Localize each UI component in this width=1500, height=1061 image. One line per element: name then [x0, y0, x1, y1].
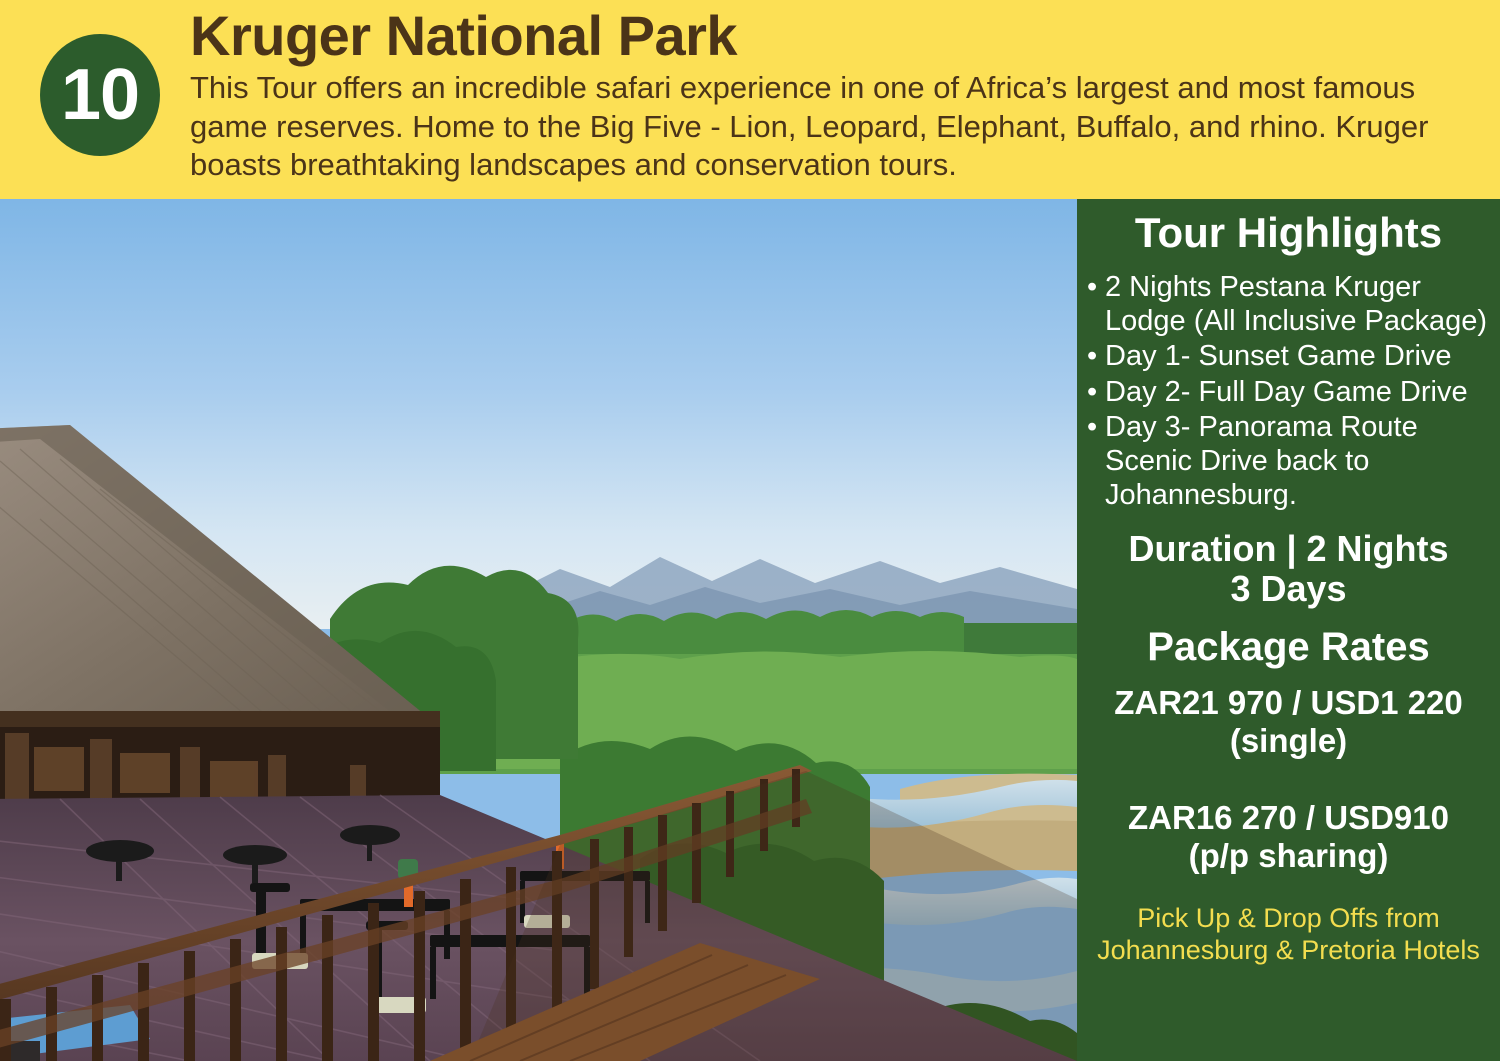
- tour-number-badge: 10: [40, 34, 160, 156]
- rate-single-price: ZAR21 970 / USD1 220: [1081, 684, 1496, 722]
- pickup-note: Pick Up & Drop Offs from Johannesburg & …: [1081, 903, 1496, 967]
- tour-highlights-list: • 2 Nights Pestana Kruger Lodge (All Inc…: [1081, 270, 1496, 513]
- header-text-block: Kruger National Park This Tour offers an…: [190, 6, 1480, 184]
- list-item: • Day 3- Panorama Route Scenic Drive bac…: [1087, 410, 1496, 513]
- brochure-page: 10 Kruger National Park This Tour offers…: [0, 0, 1500, 1061]
- tour-description: This Tour offers an incredible safari ex…: [190, 69, 1465, 183]
- bullet-icon: •: [1087, 270, 1105, 304]
- pickup-line-1: Pick Up & Drop Offs from: [1081, 903, 1496, 935]
- list-item: • 2 Nights Pestana Kruger Lodge (All Inc…: [1087, 270, 1496, 338]
- page-title: Kruger National Park: [190, 6, 1480, 66]
- header-banner: 10 Kruger National Park This Tour offers…: [0, 0, 1500, 199]
- list-item-label: Day 1- Sunset Game Drive: [1105, 339, 1496, 373]
- list-item: • Day 2- Full Day Game Drive: [1087, 375, 1496, 409]
- tour-number-label: 10: [61, 59, 139, 131]
- duration-line-1: Duration | 2 Nights: [1081, 529, 1496, 569]
- rate-sharing-price: ZAR16 270 / USD910: [1081, 799, 1496, 837]
- list-item-label: Day 3- Panorama Route Scenic Drive back …: [1105, 410, 1496, 513]
- rate-sharing: ZAR16 270 / USD910 (p/p sharing): [1081, 799, 1496, 876]
- rate-single: ZAR21 970 / USD1 220 (single): [1081, 684, 1496, 761]
- duration-block: Duration | 2 Nights 3 Days: [1081, 529, 1496, 610]
- package-rates-heading: Package Rates: [1081, 625, 1496, 670]
- list-item-label: 2 Nights Pestana Kruger Lodge (All Inclu…: [1105, 270, 1496, 338]
- bullet-icon: •: [1087, 375, 1105, 409]
- lodge-photo-illustration: [0, 199, 1077, 1061]
- rate-single-label: (single): [1081, 722, 1496, 760]
- pickup-line-2: Johannesburg & Pretoria Hotels: [1081, 935, 1496, 967]
- lodge-photo: [0, 199, 1077, 1061]
- bullet-icon: •: [1087, 339, 1105, 373]
- bullet-icon: •: [1087, 410, 1105, 444]
- duration-line-2: 3 Days: [1081, 569, 1496, 609]
- tour-details-panel: Tour Highlights • 2 Nights Pestana Kruge…: [1077, 199, 1500, 1061]
- list-item: • Day 1- Sunset Game Drive: [1087, 339, 1496, 373]
- rate-sharing-label: (p/p sharing): [1081, 837, 1496, 875]
- tour-highlights-heading: Tour Highlights: [1081, 209, 1496, 256]
- list-item-label: Day 2- Full Day Game Drive: [1105, 375, 1496, 409]
